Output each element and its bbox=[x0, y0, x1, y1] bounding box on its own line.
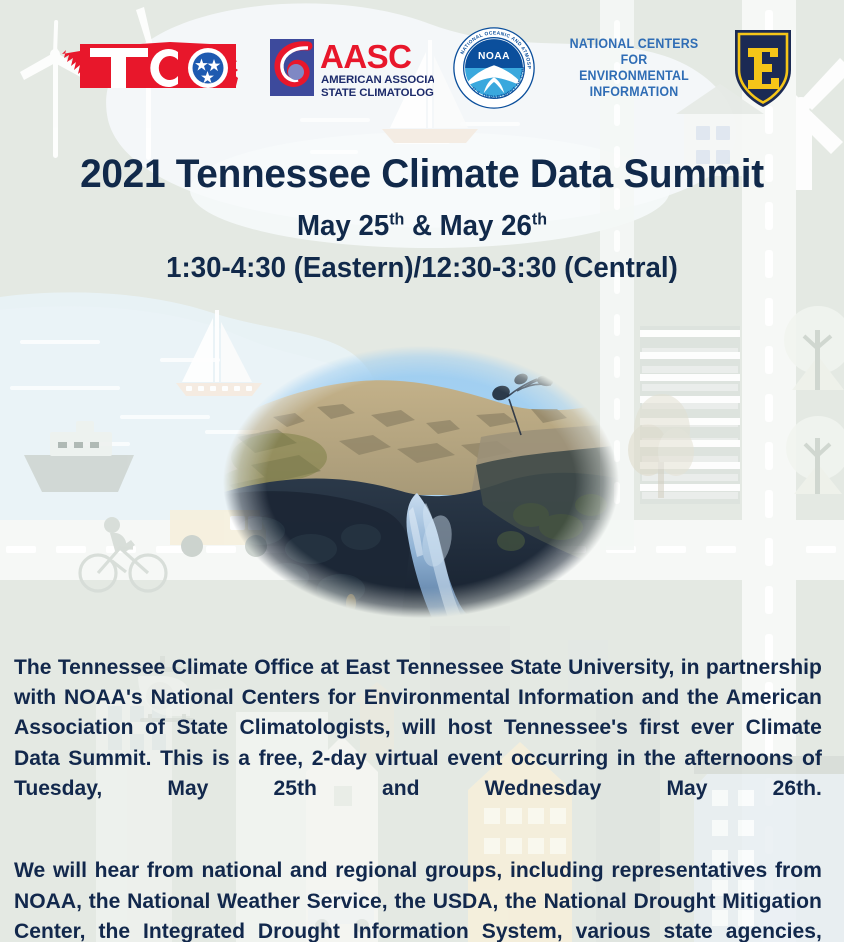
tco-logo bbox=[50, 28, 250, 108]
paragraph-2: We will hear from national and regional … bbox=[14, 855, 822, 942]
paragraph-1: The Tennessee Climate Office at East Ten… bbox=[14, 652, 822, 833]
date-2-text: May 26 bbox=[440, 210, 532, 242]
page-title: 2021 Tennessee Climate Data Summit bbox=[13, 152, 832, 197]
ncei-wordmark: NATIONAL CENTERS FOR ENVIRONMENTAL INFOR… bbox=[560, 36, 707, 100]
poster: AASC AMERICAN ASSOCIATION OF STATE CLIMA… bbox=[0, 0, 844, 942]
event-dates: May 25th & May 26th bbox=[13, 209, 832, 244]
event-times: 1:30-4:30 (Eastern)/12:30-3:30 (Central) bbox=[13, 251, 832, 286]
date-separator: & bbox=[404, 210, 439, 242]
date-1-text: May 25 bbox=[297, 210, 389, 242]
noaa-seal: NOAA NATIONAL OCEANIC AND ATMOSPHERIC AD… bbox=[452, 23, 536, 113]
svg-text:NOAA: NOAA bbox=[478, 51, 510, 62]
svg-text:STATE CLIMATOLOGISTS: STATE CLIMATOLOGISTS bbox=[321, 87, 434, 99]
body-copy: The Tennessee Climate Office at East Ten… bbox=[14, 652, 822, 942]
svg-text:AMERICAN ASSOCIATION OF: AMERICAN ASSOCIATION OF bbox=[321, 74, 434, 86]
logo-bar: AASC AMERICAN ASSOCIATION OF STATE CLIMA… bbox=[0, 22, 844, 114]
date-1-ordinal: th bbox=[389, 209, 404, 228]
ncei-line-2: ENVIRONMENTAL INFORMATION bbox=[560, 68, 707, 100]
svg-text:AASC: AASC bbox=[320, 38, 412, 75]
date-2-ordinal: th bbox=[532, 209, 547, 228]
aasc-logo: AASC AMERICAN ASSOCIATION OF STATE CLIMA… bbox=[268, 32, 434, 104]
mountain-gorge-photo bbox=[221, 345, 621, 620]
title-block: 2021 Tennessee Climate Data Summit May 2… bbox=[0, 152, 844, 285]
etsu-shield bbox=[732, 26, 794, 110]
ncei-line-1: NATIONAL CENTERS FOR bbox=[560, 36, 707, 68]
